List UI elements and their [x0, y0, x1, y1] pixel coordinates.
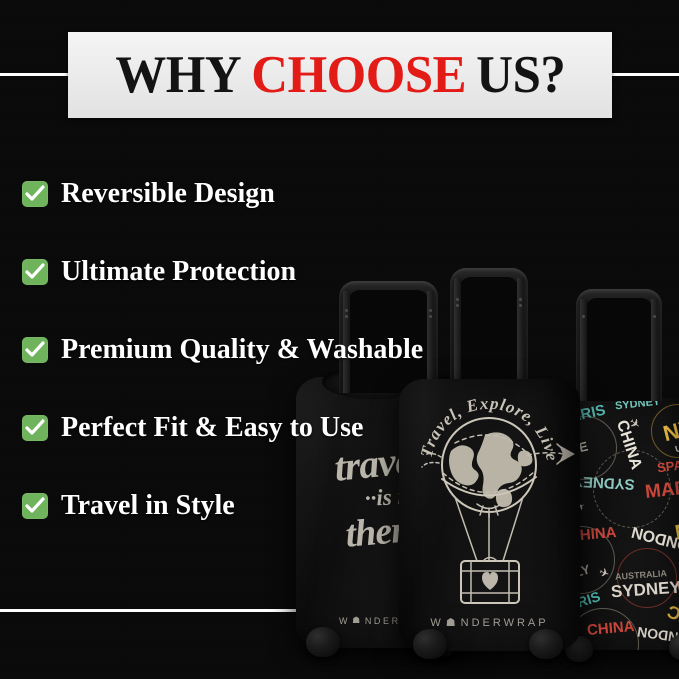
luggage-wheel	[413, 629, 447, 659]
stamp: NICE	[559, 438, 589, 460]
title-word-choose: CHOOSE	[251, 46, 466, 104]
luggage-wheel	[669, 634, 679, 660]
luggage-wheel	[306, 627, 340, 657]
check-icon	[22, 259, 48, 285]
feature-item: Ultimate Protection	[22, 254, 542, 290]
luggage-right-shell: PARIS SYDNEY NYC CHINA NICE SPAIN MADRID…	[559, 398, 679, 650]
stamp: SYDNEY	[573, 472, 635, 492]
header-rule-left	[0, 73, 70, 76]
travel-stamp-pattern: PARIS SYDNEY NYC CHINA NICE SPAIN MADRID…	[559, 398, 679, 650]
stamp: CHINA	[586, 618, 635, 639]
pin-icon: ☗	[446, 616, 459, 629]
plane-icon: ✈	[575, 501, 588, 515]
luggage-wheel	[565, 636, 593, 662]
stamp: PARIS	[560, 402, 607, 428]
feature-label: Perfect Fit & Easy to Use	[61, 414, 363, 442]
feature-item: Perfect Fit & Easy to Use	[22, 410, 542, 446]
check-icon	[22, 337, 48, 363]
stamp: NYC	[661, 411, 679, 447]
plane-icon: ✈	[597, 565, 612, 583]
feature-label: Reversible Design	[61, 180, 275, 208]
stamp: SPAIN	[656, 456, 679, 476]
stamp: SYDNEY	[610, 578, 679, 603]
luggage-center-brand: W☗NDERWRAP	[399, 616, 580, 629]
stamp: SYDNEY	[614, 398, 660, 412]
title-word-why: WHY	[115, 46, 241, 104]
check-icon	[22, 493, 48, 519]
luggage-left-brand: W☗W♡NDERWRAPNDERWRAP	[296, 615, 481, 626]
check-icon	[22, 415, 48, 441]
luggage-wheel	[424, 627, 458, 657]
feature-label: Premium Quality & Washable	[61, 336, 423, 364]
feature-item: Travel in Style	[22, 488, 542, 524]
plane-icon: ✈	[625, 414, 643, 433]
luggage-wheel	[529, 629, 563, 659]
header-banner: WHYCHOOSEUS?	[68, 32, 612, 118]
feature-label: Travel in Style	[61, 492, 235, 520]
stamp: ITALY	[559, 561, 592, 585]
stamp: CHINA	[568, 524, 617, 545]
luggage-right: PARIS SYDNEY NYC CHINA NICE SPAIN MADRID…	[559, 398, 679, 650]
pin-icon: ☗	[352, 615, 363, 626]
header-rule-right	[609, 73, 679, 76]
feature-item: Reversible Design	[22, 176, 542, 212]
stamp: AUSTRALIA	[615, 568, 668, 582]
feature-list: Reversible Design Ultimate Protection Pr…	[22, 176, 542, 566]
feature-item: Premium Quality & Washable	[22, 332, 542, 368]
stamp: USA	[674, 440, 679, 454]
feature-label: Ultimate Protection	[61, 258, 296, 286]
stamp: NYC	[665, 600, 679, 633]
stamp: CHINA	[612, 418, 645, 472]
stamp: MADRID	[644, 474, 679, 504]
page-title: WHYCHOOSEUS?	[115, 49, 565, 102]
stamp: NYC	[673, 514, 679, 545]
stamp: LONDON	[630, 522, 679, 556]
promo-graphic: WHYCHOOSEUS? PARIS SYDNEY NYC CHINA	[0, 0, 679, 679]
check-icon	[22, 181, 48, 207]
stamp: LONDON	[636, 624, 679, 648]
footer-rule	[0, 609, 679, 612]
title-word-us: US?	[476, 46, 565, 104]
luggage-handle-right	[576, 289, 662, 401]
